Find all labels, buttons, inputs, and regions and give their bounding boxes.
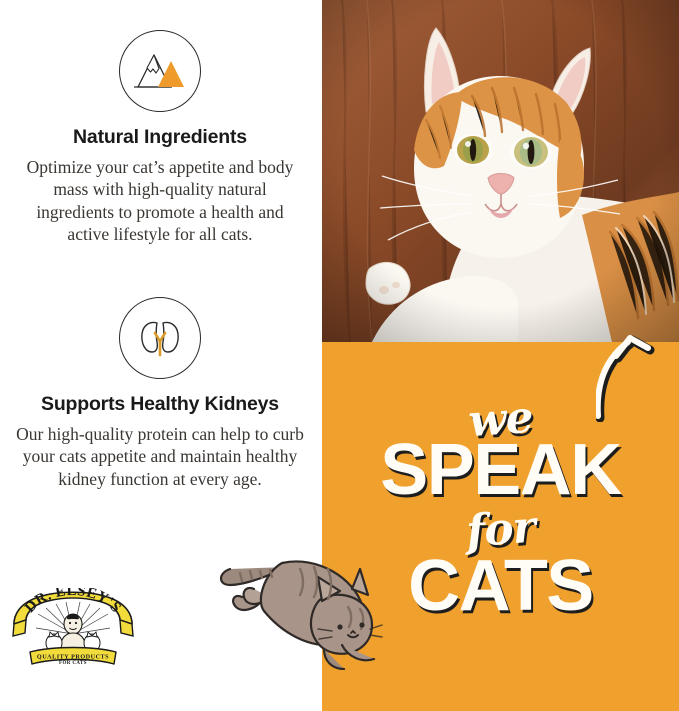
mountain-icon (119, 30, 201, 112)
svg-text:DR. ELSEY'S: DR. ELSEY'S (22, 588, 124, 616)
kidney-icon (119, 297, 201, 379)
feature-natural-ingredients: Natural Ingredients Optimize your cat’s … (0, 30, 320, 246)
promo-page: Natural Ingredients Optimize your cat’s … (0, 0, 679, 711)
feature-body: Optimize your cat’s appetite and body ma… (0, 156, 320, 246)
cat-photo (322, 0, 679, 342)
logo-banner-text: QUALITY PRODUCTS (37, 654, 109, 661)
feature-title: Natural Ingredients (0, 126, 320, 149)
brand-logo: DR. ELSEY'S QUALITY PRODUCTS FOR CATS (8, 588, 138, 672)
feature-supports-healthy-kidneys: Supports Healthy Kidneys Our high-qualit… (0, 297, 320, 490)
feature-body: Our high-quality protein can help to cur… (0, 423, 320, 490)
leaping-cat-illustration (212, 545, 387, 670)
logo-brand-text: DR. ELSEY'S (22, 588, 124, 616)
logo-banner-sub: FOR CATS (59, 661, 87, 666)
feature-title: Supports Healthy Kidneys (0, 393, 320, 416)
curved-up-arrow-icon (596, 322, 666, 422)
